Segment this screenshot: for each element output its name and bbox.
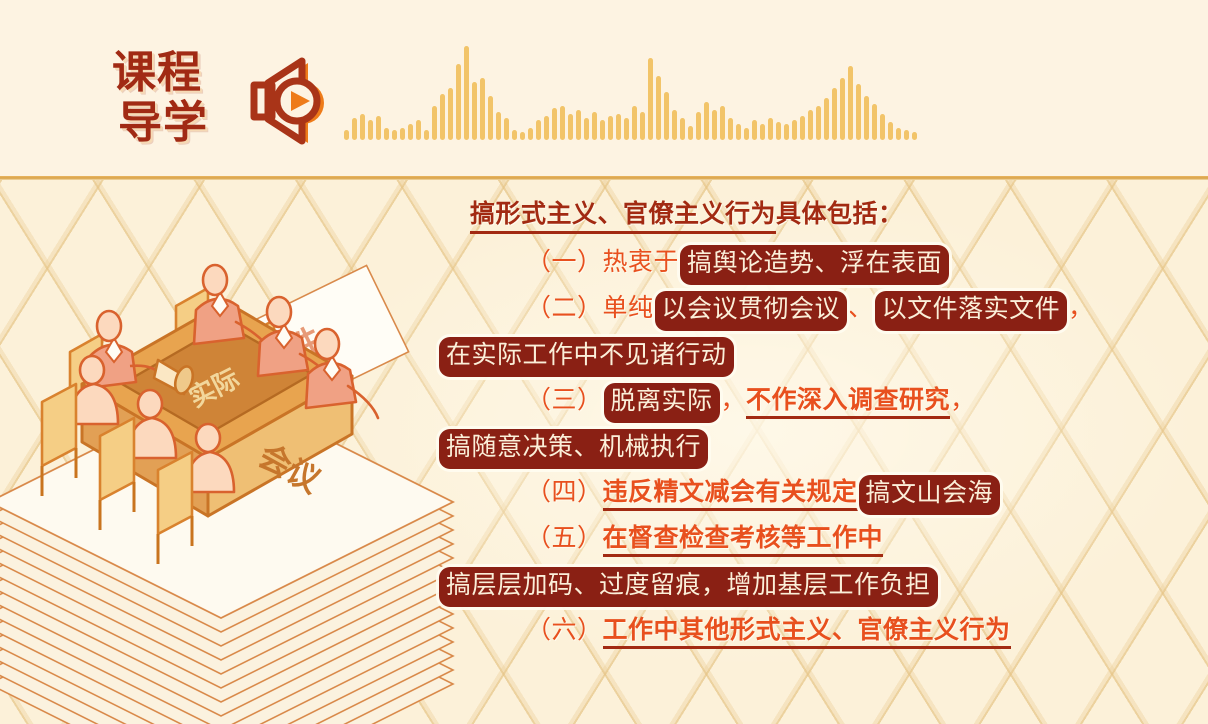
clause-text: 单纯 — [603, 295, 654, 322]
clause-number: （六） — [526, 617, 603, 644]
waveform-bar — [464, 46, 469, 140]
waveform-bar — [856, 84, 861, 140]
waveform-bar — [440, 94, 445, 140]
clause-number: （五） — [526, 525, 603, 552]
waveform-bar — [592, 112, 597, 140]
slide-root: 课程 导学 — [0, 0, 1208, 724]
waveform-bar — [888, 122, 893, 140]
waveform-bar — [872, 104, 877, 140]
waveform-bar — [728, 118, 733, 140]
waveform-bar — [376, 116, 381, 140]
emphasis-underlined-text: 违反精文减会有关规定 — [603, 479, 858, 511]
waveform-bar — [880, 114, 885, 140]
waveform-bar — [784, 124, 789, 140]
page-title-highlight: 搞形式主义、官僚主义行为 — [470, 201, 776, 234]
waveform-bar — [480, 78, 485, 140]
waveform-bar — [456, 64, 461, 140]
clause-item: （五）在督查检查考核等工作中搞层层加码、过度留痕，增加基层工作负担 — [438, 516, 1150, 608]
logo-line-2: 导学 — [112, 98, 222, 148]
highlight-pill: 脱离实际 — [604, 383, 720, 423]
highlight-pill: 搞层层加码、过度留痕，增加基层工作负担 — [439, 567, 938, 607]
waveform-bar — [512, 130, 517, 140]
waveform-bar — [792, 120, 797, 140]
highlight-pill: 以文件落实文件 — [875, 291, 1068, 331]
waveform-bar — [632, 106, 637, 140]
waveform-bar — [544, 116, 549, 140]
highlight-pill: 搞文山会海 — [859, 475, 1001, 515]
waveform-bar — [736, 124, 741, 140]
waveform-bar — [744, 128, 749, 140]
clause-number: （四） — [526, 479, 603, 506]
header-bar: 课程 导学 — [0, 0, 1208, 178]
waveform-bar — [696, 112, 701, 140]
waveform-bar — [416, 120, 421, 140]
waveform-bar — [584, 118, 589, 140]
waveform-bar — [504, 118, 509, 140]
clause-item: （三）脱离实际，不作深入调查研究，搞随意决策、机械执行 — [438, 378, 1150, 470]
waveform-bar — [488, 96, 493, 140]
course-guide-logo: 课程 导学 — [112, 48, 222, 152]
highlight-pill: 以会议贯彻会议 — [655, 291, 848, 331]
emphasis-underlined-text: 工作中其他形式主义、官僚主义行为 — [603, 617, 1011, 649]
page-title-tail: 具体包括： — [776, 201, 904, 228]
highlight-pill: 在实际工作中不见诸行动 — [439, 337, 734, 377]
waveform-bar — [352, 118, 357, 140]
clause-item: （六）工作中其他形式主义、官僚主义行为 — [438, 608, 1150, 654]
waveform-bar — [360, 114, 365, 140]
waveform-bar — [496, 112, 501, 140]
page-title: 搞形式主义、官僚主义行为具体包括： — [470, 196, 1150, 234]
clause-item: （一）热衷于搞舆论造势、浮在表面 — [438, 240, 1150, 286]
waveform-bar — [664, 92, 669, 140]
clause-list: （一）热衷于搞舆论造势、浮在表面（二）单纯以会议贯彻会议、以文件落实文件，在实际… — [438, 240, 1150, 654]
waveform-bar — [472, 82, 477, 140]
waveform-bar — [864, 96, 869, 140]
waveform-bar — [568, 114, 573, 140]
clause-number: （三） — [526, 387, 603, 414]
waveform-bar — [400, 128, 405, 140]
waveform-bar — [672, 110, 677, 140]
highlight-pill: 搞随意决策、机械执行 — [439, 429, 708, 469]
clause-text: ， — [1068, 295, 1094, 322]
waveform-bar — [848, 66, 853, 140]
waveform-bar — [680, 118, 685, 140]
emphasis-underlined-text: 在督查检查考核等工作中 — [603, 525, 884, 557]
waveform-bar — [608, 116, 613, 140]
clause-text: ， — [950, 387, 976, 414]
waveform-bar — [344, 130, 349, 140]
waveform-bar — [824, 98, 829, 140]
waveform-bar — [896, 128, 901, 140]
audio-waveform — [344, 18, 1144, 140]
waveform-bar — [648, 58, 653, 140]
waveform-bar — [536, 120, 541, 140]
waveform-bar — [384, 128, 389, 140]
waveform-bar — [520, 132, 525, 140]
waveform-bar — [528, 128, 533, 140]
waveform-bar — [432, 106, 437, 140]
waveform-bar — [816, 106, 821, 140]
speaker-play-icon[interactable] — [246, 55, 336, 151]
waveform-bar — [704, 102, 709, 140]
waveform-bar — [760, 124, 765, 140]
waveform-bar — [656, 76, 661, 140]
waveform-bar — [712, 110, 717, 140]
waveform-bar — [600, 120, 605, 140]
waveform-bar — [720, 106, 725, 140]
waveform-bar — [768, 118, 773, 140]
waveform-bar — [616, 114, 621, 140]
waveform-bar — [640, 112, 645, 140]
waveform-bar — [752, 120, 757, 140]
waveform-bar — [552, 108, 557, 140]
waveform-bar — [424, 130, 429, 140]
waveform-bar — [840, 78, 845, 140]
waveform-bar — [576, 110, 581, 140]
waveform-bar — [808, 110, 813, 140]
waveform-bar — [912, 132, 917, 140]
waveform-bar — [832, 88, 837, 140]
waveform-bar — [904, 130, 909, 140]
highlight-pill: 搞舆论造势、浮在表面 — [680, 245, 949, 285]
waveform-bar — [408, 124, 413, 140]
waveform-bar — [800, 116, 805, 140]
clause-number: （二） — [526, 295, 603, 322]
body-text-block: 搞形式主义、官僚主义行为具体包括： （一）热衷于搞舆论造势、浮在表面（二）单纯以… — [438, 196, 1150, 654]
clause-number: （一） — [526, 249, 603, 276]
clause-text: 、 — [848, 295, 874, 322]
emphasis-underlined-text: 不作深入调查研究 — [746, 387, 950, 419]
clause-item: （四）违反精文减会有关规定搞文山会海 — [438, 470, 1150, 516]
clause-text: 热衷于 — [603, 249, 680, 276]
waveform-bar — [776, 122, 781, 140]
clause-text: ， — [721, 387, 747, 414]
waveform-bar — [560, 106, 565, 140]
waveform-bar — [392, 130, 397, 140]
waveform-bar — [624, 118, 629, 140]
logo-line-1: 课程 — [112, 48, 222, 98]
clause-item: （二）单纯以会议贯彻会议、以文件落实文件，在实际工作中不见诸行动 — [438, 286, 1150, 378]
waveform-bar — [368, 120, 373, 140]
waveform-bar — [688, 126, 693, 140]
waveform-bar — [448, 88, 453, 140]
meeting-on-paper-stack-illustration: 文件 实际 会议 — [0, 252, 456, 724]
